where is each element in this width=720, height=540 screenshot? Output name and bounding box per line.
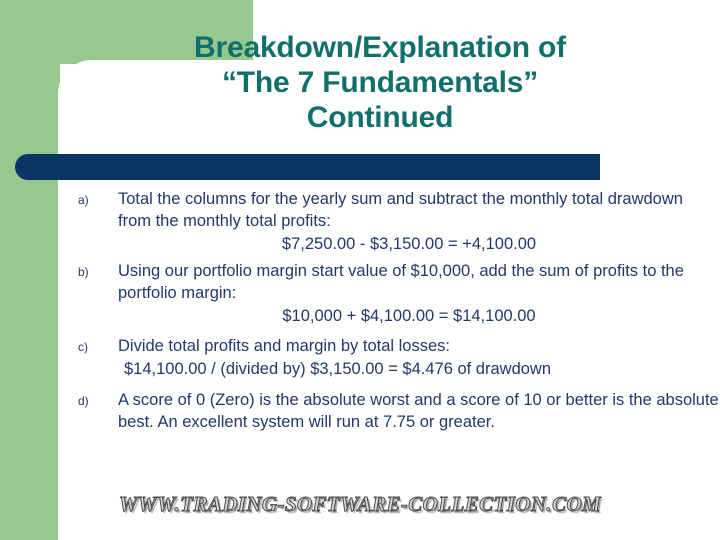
navy-divider-bar (15, 154, 600, 180)
slide-canvas: Breakdown/Explanation of “The 7 Fundamen… (0, 0, 720, 540)
list-item-subline: $14,100.00 / (divided by) $3,150.00 = $4… (118, 358, 720, 380)
list-item: d) A score of 0 (Zero) is the absolute w… (60, 389, 720, 433)
green-left-strip-decoration (0, 60, 60, 540)
list-item-body: Using our portfolio margin start value o… (118, 260, 720, 327)
list-item-marker: b) (60, 260, 118, 284)
list-item: c) Divide total profits and margin by to… (60, 335, 720, 380)
list-item-marker: a) (60, 188, 118, 212)
list-item-marker: d) (60, 389, 118, 413)
list-item-equation: $7,250.00 - $3,150.00 = +4,100.00 (118, 233, 720, 255)
list-item-text: Divide total profits and margin by total… (118, 335, 720, 357)
list-item: a) Total the columns for the yearly sum … (60, 188, 720, 255)
bullet-list: a) Total the columns for the yearly sum … (60, 188, 720, 435)
list-item-text: Total the columns for the yearly sum and… (118, 188, 720, 232)
list-item-text: Using our portfolio margin start value o… (118, 260, 720, 304)
slide-title: Breakdown/Explanation of “The 7 Fundamen… (80, 30, 680, 135)
list-item-body: Divide total profits and margin by total… (118, 335, 720, 380)
watermark-text: WWW.TRADING-SOFTWARE-COLLECTION.COM (0, 492, 720, 517)
list-item-equation: $10,000 + $4,100.00 = $14,100.00 (118, 305, 720, 327)
list-item-marker: c) (60, 335, 118, 359)
list-item-text: A score of 0 (Zero) is the absolute wors… (118, 389, 720, 433)
list-item-body: Total the columns for the yearly sum and… (118, 188, 720, 255)
list-item: b) Using our portfolio margin start valu… (60, 260, 720, 327)
list-item-body: A score of 0 (Zero) is the absolute wors… (118, 389, 720, 433)
